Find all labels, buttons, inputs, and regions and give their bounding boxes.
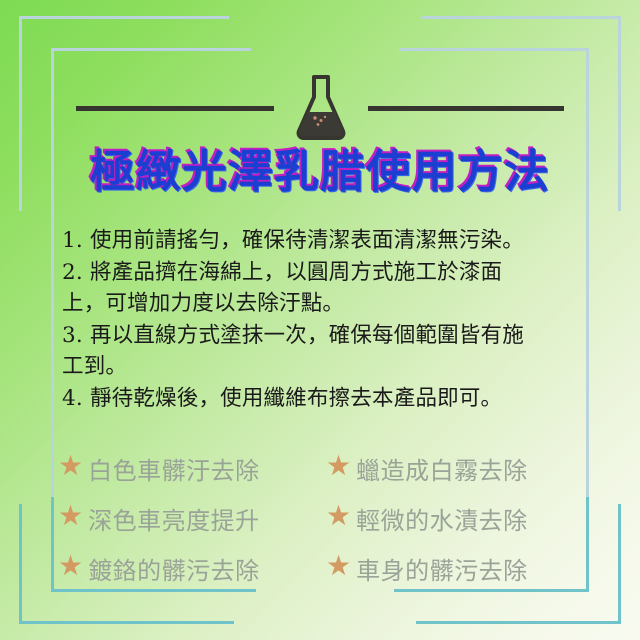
star-icon: ★ [58, 553, 83, 581]
star-icon: ★ [58, 453, 83, 481]
frame-line-vertical [586, 497, 589, 592]
instruction-list: 1. 使用前請搖勻，確保待清潔表面清潔無污染。 2. 將產品擠在海綿上，以圓周方… [62, 225, 582, 415]
instruction-step-4: 4. 靜待乾燥後，使用纖維布擦去本產品即可。 [62, 383, 582, 415]
feature-label: 輕微的水漬去除 [356, 501, 528, 536]
instruction-step-3-continued: 工到。 [62, 351, 582, 383]
feature-item: ★ 車身的髒污去除 [326, 551, 586, 586]
feature-list: ★ 白色車髒汙去除 ★ 蠟造成白霧去除 ★ 深色車亮度提升 ★ 輕微的水漬去除 … [58, 443, 586, 593]
feature-item: ★ 蠟造成白霧去除 [326, 451, 586, 486]
star-icon: ★ [58, 503, 83, 531]
feature-label: 深色車亮度提升 [88, 501, 260, 536]
frame-line-vertical [618, 504, 621, 624]
feature-item: ★ 鍍鉻的髒污去除 [58, 551, 326, 586]
frame-line-horizontal [399, 48, 589, 51]
divider-rule-right [368, 106, 564, 111]
star-icon: ★ [326, 453, 351, 481]
erlenmeyer-flask-icon [294, 73, 348, 143]
feature-item: ★ 深色車亮度提升 [58, 501, 326, 536]
instruction-step-2: 2. 將產品擠在海綿上，以圓周方式施工於漆面 [62, 257, 582, 289]
feature-item: ★ 輕微的水漬去除 [326, 501, 586, 536]
star-icon: ★ [326, 503, 351, 531]
feature-label: 車身的髒污去除 [356, 551, 528, 586]
frame-line-horizontal [421, 16, 621, 19]
frame-line-horizontal [51, 48, 251, 51]
frame-line-vertical [51, 497, 54, 592]
promotional-poster: 極緻光澤乳腊使用方法 1. 使用前請搖勻，確保待清潔表面清潔無污染。 2. 將產… [0, 0, 640, 640]
feature-label: 蠟造成白霧去除 [356, 451, 528, 486]
star-icon: ★ [326, 553, 351, 581]
divider-rule-left [76, 106, 274, 111]
instruction-step-3: 3. 再以直線方式塗抹一次，確保每個範圍皆有施 [62, 320, 582, 352]
header-divider-band [0, 72, 640, 144]
feature-label: 白色車髒汙去除 [88, 451, 260, 486]
page-title: 極緻光澤乳腊使用方法 [0, 144, 640, 200]
frame-line-vertical [19, 504, 22, 624]
feature-label: 鍍鉻的髒污去除 [88, 551, 260, 586]
instruction-step-2-continued: 上，可增加力度以去除汙點。 [62, 288, 582, 320]
frame-line-horizontal [19, 621, 234, 624]
instruction-step-1: 1. 使用前請搖勻，確保待清潔表面清潔無污染。 [62, 225, 582, 257]
feature-item: ★ 白色車髒汙去除 [58, 451, 326, 486]
frame-line-horizontal [19, 16, 229, 19]
frame-line-horizontal [416, 621, 621, 624]
